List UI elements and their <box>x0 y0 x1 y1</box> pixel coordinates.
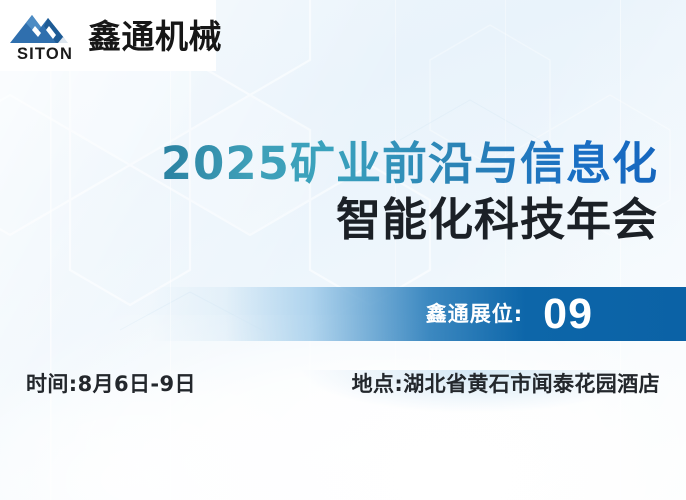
event-info-row: 时间:8月6日-9日 地点:湖北省黄石市闻泰花园酒店 <box>0 372 686 397</box>
brand-latin-name: SITON <box>8 46 82 63</box>
booth-label: 鑫通展位: <box>426 304 523 325</box>
background-cloud-bottom <box>0 380 329 500</box>
background-light-sweep <box>0 0 686 500</box>
hexagon-pattern-decoration <box>0 0 686 500</box>
headline-line-2: 智能化科技年会 <box>0 196 658 244</box>
event-time: 时间:8月6日-9日 <box>26 372 196 397</box>
poster-canvas: SITON 鑫通机械 2025矿业前沿与信息化 智能化科技年会 鑫通展位: 09… <box>0 0 686 500</box>
brand-chinese-name: 鑫通机械 <box>88 20 222 53</box>
background-streaks-decoration <box>0 0 686 500</box>
mountain-logo-icon: SITON <box>8 9 82 63</box>
poster-headline: 2025矿业前沿与信息化 智能化科技年会 <box>0 140 658 243</box>
background-cloud-left <box>0 315 686 500</box>
brand-logo-plate: SITON 鑫通机械 <box>0 0 216 71</box>
booth-banner: 鑫通展位: 09 <box>150 287 686 341</box>
headline-line-1: 2025矿业前沿与信息化 <box>0 140 658 188</box>
event-location: 地点:湖北省黄石市闻泰花园酒店 <box>352 372 660 397</box>
booth-number: 09 <box>543 293 593 336</box>
